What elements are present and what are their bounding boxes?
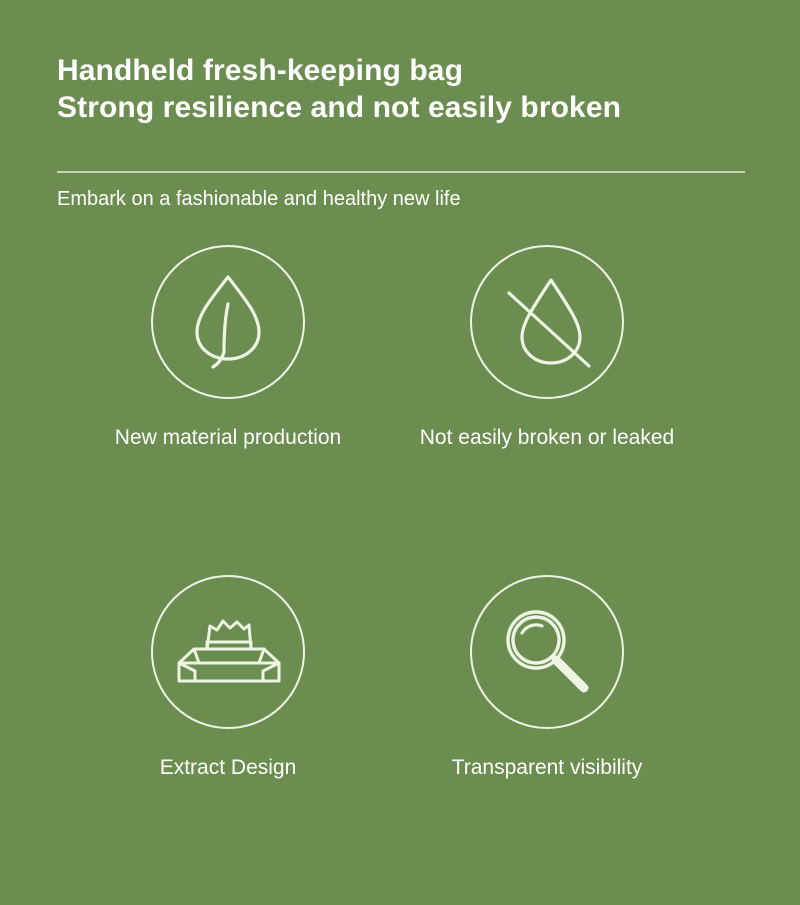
leaf-icon [186, 270, 270, 374]
page-title-line-1: Handheld fresh-keeping bag [57, 52, 747, 89]
magnifier-icon [495, 600, 599, 704]
tissue-box-icon [173, 609, 283, 695]
feature-row: Extract Design [0, 575, 800, 905]
feature-label: New material production [63, 425, 393, 451]
tissue-box-icon-circle [151, 575, 305, 729]
subtitle: Embark on a fashionable and healthy new … [57, 186, 461, 212]
no-leak-droplet-icon [495, 270, 599, 374]
feature-item-new-material: New material production [63, 245, 393, 451]
feature-row: New material production Not easily broke… [0, 245, 800, 575]
header: Handheld fresh-keeping bag Strong resili… [57, 52, 747, 126]
header-divider [57, 171, 745, 173]
product-feature-poster: Handheld fresh-keeping bag Strong resili… [0, 0, 800, 800]
feature-label: Not easily broken or leaked [382, 425, 712, 451]
feature-item-no-leak: Not easily broken or leaked [382, 245, 712, 451]
feature-label: Extract Design [63, 755, 393, 781]
page-title-line-2: Strong resilience and not easily broken [57, 89, 747, 126]
feature-item-extract-design: Extract Design [63, 575, 393, 781]
feature-grid: New material production Not easily broke… [0, 245, 800, 905]
no-leak-droplet-icon-circle [470, 245, 624, 399]
feature-label: Transparent visibility [382, 755, 712, 781]
magnifier-icon-circle [470, 575, 624, 729]
feature-item-transparent-visibility: Transparent visibility [382, 575, 712, 781]
leaf-icon-circle [151, 245, 305, 399]
